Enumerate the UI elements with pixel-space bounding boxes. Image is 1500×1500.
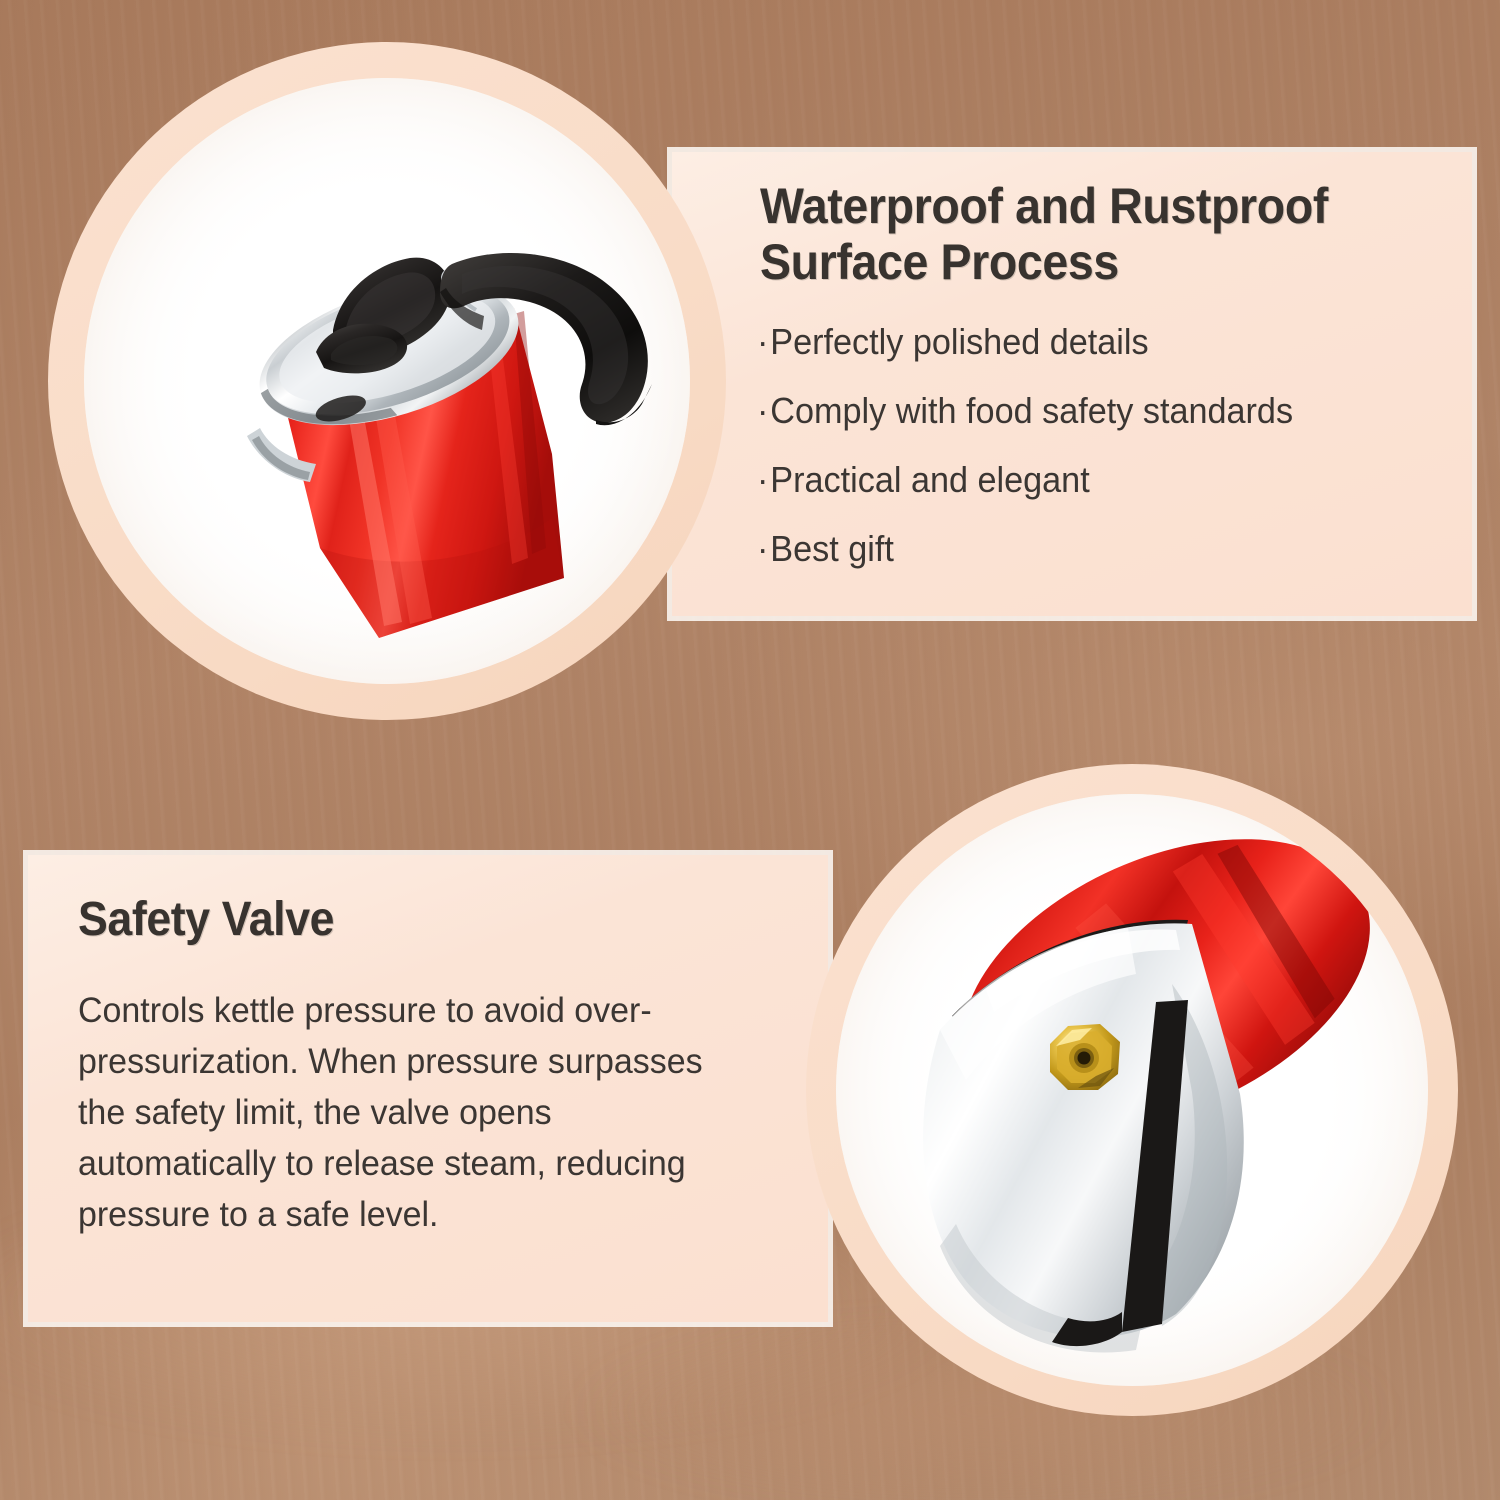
infographic-canvas: Waterproof and Rustproof Surface Process…	[0, 0, 1500, 1500]
bullet-label: Comply with food safety standards	[770, 390, 1293, 431]
safety-valve-description: Controls kettle pressure to avoid over-p…	[78, 985, 738, 1240]
product-photo-badge-valve	[806, 764, 1458, 1416]
bullet-dot-icon: ·	[757, 462, 768, 498]
bullet-label: Best gift	[770, 528, 894, 569]
brass-safety-valve	[1050, 1024, 1120, 1090]
waterproof-heading: Waterproof and Rustproof Surface Process	[760, 178, 1420, 290]
product-photo-kettle-inner	[84, 78, 690, 684]
kettle-illustration	[84, 78, 690, 684]
bullet-item: ·Best gift	[757, 531, 1436, 567]
valve-vent-hole	[1078, 1052, 1091, 1065]
bullet-item: ·Practical and elegant	[757, 462, 1436, 498]
product-photo-valve-inner	[836, 794, 1428, 1386]
bullet-dot-icon: ·	[757, 324, 768, 360]
bullet-label: Perfectly polished details	[770, 321, 1148, 362]
bullet-item: ·Perfectly polished details	[757, 324, 1436, 360]
bullet-item: ·Comply with food safety standards	[757, 393, 1436, 429]
bullet-dot-icon: ·	[757, 531, 768, 567]
waterproof-bullet-list: ·Perfectly polished details ·Comply with…	[757, 324, 1472, 600]
safety-valve-heading: Safety Valve	[78, 893, 729, 947]
safety-valve-illustration	[836, 794, 1428, 1386]
bullet-label: Practical and elegant	[770, 459, 1089, 500]
product-photo-badge-kettle	[48, 42, 726, 720]
bullet-dot-icon: ·	[757, 393, 768, 429]
